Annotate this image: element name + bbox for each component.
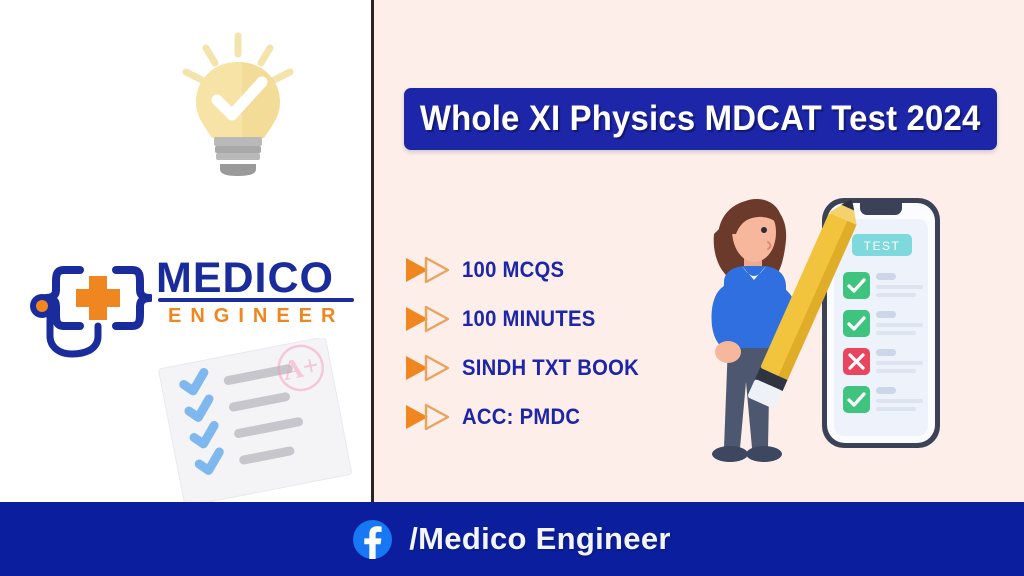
stethoscope-medical-cross-icon	[28, 250, 152, 362]
double-arrow-icon	[404, 402, 450, 432]
left-panel: MEDICO ENGINEER	[0, 0, 372, 502]
title-banner: Whole XI Physics MDCAT Test 2024	[404, 88, 997, 150]
list-item: 100 MINUTES	[404, 301, 694, 337]
list-item-label: ACC: PMDC	[462, 404, 580, 430]
logo-subtitle: ENGINEER	[168, 305, 344, 328]
list-item-label: SINDH TXT BOOK	[462, 355, 639, 381]
facebook-icon[interactable]	[353, 520, 392, 559]
list-item: 100 MCQS	[404, 252, 694, 288]
logo-wordmark: MEDICO	[156, 254, 334, 303]
lightbulb-check-icon	[176, 22, 300, 178]
promo-poster: MEDICO ENGINEER	[0, 0, 1024, 576]
list-item-label: 100 MCQS	[462, 257, 564, 283]
page-title: Whole XI Physics MDCAT Test 2024	[420, 99, 981, 139]
student-quiz-illustration: TEST	[684, 186, 1000, 502]
footer-bar: /Medico Engineer	[0, 502, 1024, 576]
logo-divider-rule	[158, 298, 354, 302]
double-arrow-icon	[404, 353, 450, 383]
double-arrow-icon	[404, 255, 450, 285]
double-arrow-icon	[404, 304, 450, 334]
svg-text:TEST: TEST	[864, 239, 901, 253]
list-item: SINDH TXT BOOK	[404, 350, 694, 386]
graded-test-paper-icon: A+	[140, 338, 366, 504]
list-item-label: 100 MINUTES	[462, 306, 596, 332]
feature-list: 100 MCQS 100 MINUTES SINDH TXT BOOK	[404, 252, 694, 448]
list-item: ACC: PMDC	[404, 399, 694, 435]
facebook-handle[interactable]: /Medico Engineer	[409, 521, 670, 557]
